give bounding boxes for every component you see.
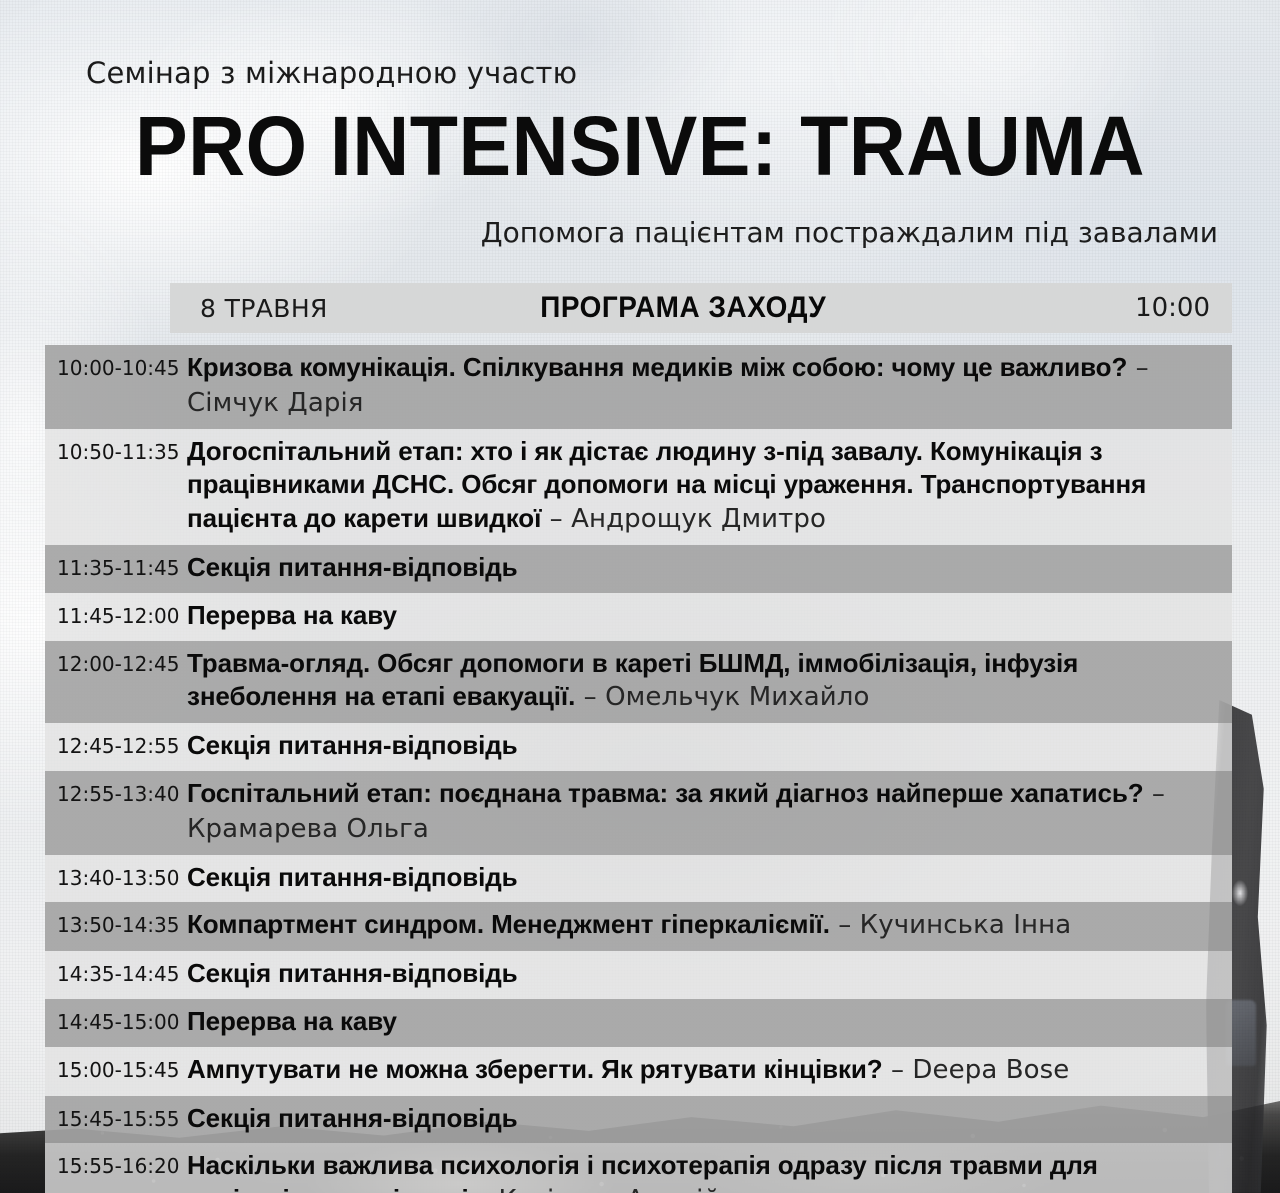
schedule-time-slot: 12:00-12:45: [45, 647, 175, 677]
schedule-speaker: – Омельчук Михайло: [575, 682, 869, 712]
schedule-time-slot: 12:45-12:55: [45, 729, 175, 759]
schedule-row: 15:00-15:45Ампутувати не можна зберегти.…: [45, 1047, 1232, 1096]
schedule-time-slot: 14:35-14:45: [45, 957, 175, 987]
schedule-time-slot: 11:45-12:00: [45, 599, 175, 629]
event-subtitle: Допомога пацієнтам постраждалим під зава…: [481, 216, 1218, 249]
schedule-row: 11:45-12:00Перерва на каву: [45, 593, 1232, 641]
schedule-topic: Секція питання-відповідь: [187, 862, 518, 892]
schedule-time-slot: 10:00-10:45: [45, 351, 175, 381]
schedule-row: 13:40-13:50Секція питання-відповідь: [45, 855, 1232, 903]
schedule-topic: Перерва на каву: [187, 1006, 397, 1036]
schedule-row: 14:35-14:45Секція питання-відповідь: [45, 951, 1232, 999]
program-heading: ПРОГРАМА ЗАХОДУ: [308, 291, 1059, 325]
schedule-session: Секція питання-відповідь: [175, 551, 1232, 585]
event-kicker: Семінар з міжнародною участю: [86, 56, 577, 90]
schedule-speaker: – Козінчук Андрій: [469, 1185, 721, 1193]
schedule-time-slot: 12:55-13:40: [45, 777, 175, 807]
schedule-topic: Секція питання-відповідь: [187, 1103, 518, 1133]
schedule-session: Перерва на каву: [175, 1005, 1232, 1039]
schedule-session: Секція питання-відповідь: [175, 861, 1232, 895]
schedule-topic: Секція питання-відповідь: [187, 958, 518, 988]
poster: Семінар з міжнародною участю PRO INTENSI…: [0, 0, 1280, 1193]
schedule-row: 15:55-16:20Наскільки важлива психологія …: [45, 1143, 1232, 1193]
schedule-topic: Секція питання-відповідь: [187, 552, 518, 582]
schedule-session: Догоспітальний етап: хто і як дістає люд…: [175, 435, 1232, 537]
schedule-table: 10:00-10:45Кризова комунікація. Спілкува…: [45, 345, 1232, 1193]
schedule-session: Госпітальний етап: поєднана травма: за я…: [175, 777, 1232, 847]
schedule-topic: Секція питання-відповідь: [187, 730, 518, 760]
schedule-topic: Кризова комунікація. Спілкування медиків…: [187, 352, 1127, 382]
schedule-session: Наскільки важлива психологія і психотера…: [175, 1149, 1232, 1193]
schedule-session: Секція питання-відповідь: [175, 1102, 1232, 1136]
schedule-time-slot: 11:35-11:45: [45, 551, 175, 581]
schedule-session: Ампутувати не можна зберегти. Як рятуват…: [175, 1053, 1232, 1088]
schedule-time-slot: 13:50-14:35: [45, 908, 175, 938]
schedule-time-slot: 10:50-11:35: [45, 435, 175, 465]
schedule-session: Перерва на каву: [175, 599, 1232, 633]
schedule-row: 12:55-13:40Госпітальний етап: поєднана т…: [45, 771, 1232, 855]
schedule-topic: Госпітальний етап: поєднана травма: за я…: [187, 778, 1144, 808]
schedule-time-slot: 15:45-15:55: [45, 1102, 175, 1132]
schedule-topic: Ампутувати не можна зберегти. Як рятуват…: [187, 1054, 883, 1084]
schedule-session: Кризова комунікація. Спілкування медиків…: [175, 351, 1232, 421]
schedule-time-slot: 15:55-16:20: [45, 1149, 175, 1179]
schedule-row: 15:45-15:55Секція питання-відповідь: [45, 1096, 1232, 1144]
schedule-session: Секція питання-відповідь: [175, 957, 1232, 991]
schedule-speaker: – Андрощук Дмитро: [541, 504, 826, 534]
program-header-bar: 8 ТРАВНЯ ПРОГРАМА ЗАХОДУ 10:00: [170, 283, 1232, 333]
schedule-session: Компартмент синдром. Менеджмент гіперкал…: [175, 908, 1232, 943]
schedule-row: 14:45-15:00Перерва на каву: [45, 999, 1232, 1047]
schedule-row: 10:00-10:45Кризова комунікація. Спілкува…: [45, 345, 1232, 429]
schedule-session: Травма-огляд. Обсяг допомоги в кареті БШ…: [175, 647, 1232, 716]
schedule-row: 10:50-11:35Догоспітальний етап: хто і як…: [45, 429, 1232, 545]
schedule-session: Секція питання-відповідь: [175, 729, 1232, 763]
schedule-topic: Компартмент синдром. Менеджмент гіперкал…: [187, 909, 830, 939]
schedule-speaker: – Кучинська Інна: [830, 910, 1071, 940]
schedule-row: 13:50-14:35Компартмент синдром. Менеджме…: [45, 902, 1232, 951]
schedule-row: 12:00-12:45Травма-огляд. Обсяг допомоги …: [45, 641, 1232, 724]
schedule-row: 11:35-11:45Секція питання-відповідь: [45, 545, 1232, 593]
schedule-time-slot: 13:40-13:50: [45, 861, 175, 891]
schedule-time-slot: 15:00-15:45: [45, 1053, 175, 1083]
page-title: PRO INTENSIVE: TRAUMA: [38, 104, 1241, 188]
schedule-topic: Перерва на каву: [187, 600, 397, 630]
schedule-row: 12:45-12:55Секція питання-відповідь: [45, 723, 1232, 771]
event-start-time: 10:00: [1135, 293, 1210, 323]
schedule-time-slot: 14:45-15:00: [45, 1005, 175, 1035]
schedule-speaker: – Deepa Bose: [883, 1055, 1070, 1085]
